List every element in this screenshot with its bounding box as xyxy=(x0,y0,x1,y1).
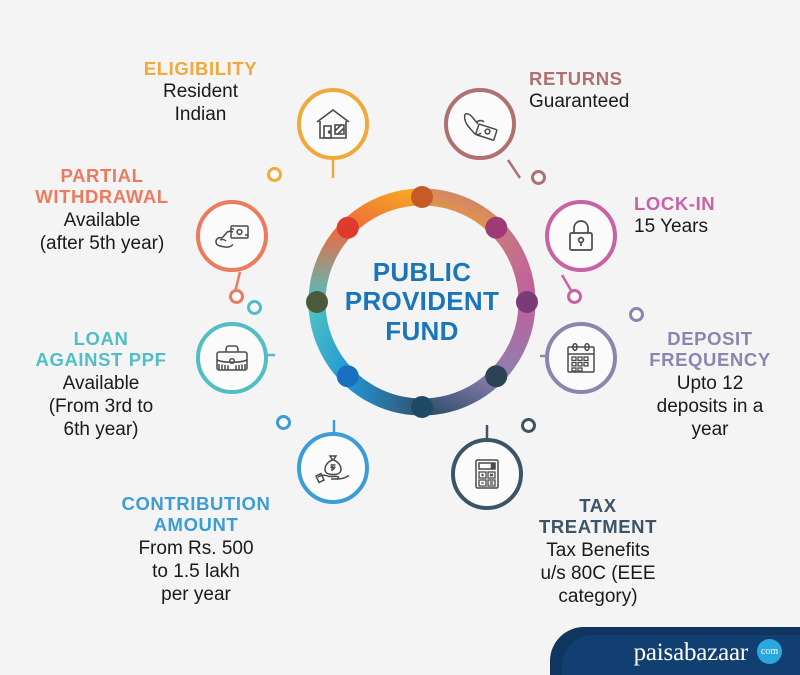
center-title-line2: PROVIDENT xyxy=(345,287,499,316)
connector-dot-eligibility xyxy=(267,167,282,182)
padlock-icon xyxy=(564,217,598,255)
label-desc-contribution-amount-2: to 1.5 lakh xyxy=(88,561,304,584)
label-desc-loan-against-ppf-3: 6th year) xyxy=(8,419,194,442)
label-eligibility: ELIGIBILITY Resident Indian xyxy=(108,58,293,127)
label-title-deposit-frequency-2: FREQUENCY xyxy=(620,349,800,370)
calendar-icon xyxy=(563,339,599,377)
label-partial-withdrawal: PARTIAL WITHDRAWAL Available (after 5th … xyxy=(6,165,198,256)
label-desc-deposit-frequency-1: Upto 12 xyxy=(620,373,800,396)
briefcase-icon xyxy=(212,340,252,376)
connector-dot-tax-treatment xyxy=(521,418,536,433)
label-desc-tax-treatment-1: Tax Benefits xyxy=(498,540,698,563)
label-loan-against-ppf: LOAN AGAINST PPF Available (From 3rd to … xyxy=(8,328,194,441)
center-title: PUBLIC PROVIDENT FUND xyxy=(303,183,541,421)
label-desc-loan-against-ppf-1: Available xyxy=(8,373,194,396)
connector-dot-returns xyxy=(531,170,546,185)
icon-circle-eligibility[interactable] xyxy=(297,88,369,160)
icon-circle-partial-withdrawal[interactable] xyxy=(196,200,268,272)
label-title-lock-in: LOCK-IN xyxy=(634,193,800,214)
label-title-contribution-amount-1: CONTRIBUTION xyxy=(88,493,304,514)
label-desc-eligibility-2: Indian xyxy=(108,104,293,127)
connector-dot-loan-against-ppf xyxy=(247,300,262,315)
label-lock-in: LOCK-IN 15 Years xyxy=(634,193,800,239)
hand-money-icon xyxy=(211,218,253,254)
label-tax-treatment: TAX TREATMENT Tax Benefits u/s 80C (EEE … xyxy=(498,495,698,608)
label-desc-loan-against-ppf-2: (From 3rd to xyxy=(8,396,194,419)
label-title-tax-treatment-1: TAX xyxy=(498,495,698,516)
label-desc-lock-in-1: 15 Years xyxy=(634,216,800,239)
money-bag-hand-icon xyxy=(312,449,354,487)
label-title-tax-treatment-2: TREATMENT xyxy=(498,516,698,537)
icon-circle-returns[interactable] xyxy=(444,88,516,160)
icon-circle-tax-treatment[interactable] xyxy=(451,438,523,510)
label-desc-partial-withdrawal-1: Available xyxy=(6,210,198,233)
ppf-infographic: PUBLIC PROVIDENT FUND xyxy=(0,0,800,675)
central-ring: PUBLIC PROVIDENT FUND xyxy=(303,183,541,421)
center-title-line1: PUBLIC xyxy=(373,258,472,287)
connector-dot-partial-withdrawal xyxy=(229,289,244,304)
house-icon xyxy=(313,104,353,144)
label-desc-deposit-frequency-3: year xyxy=(620,419,800,442)
icon-circle-loan-against-ppf[interactable] xyxy=(196,322,268,394)
icon-circle-contribution-amount[interactable] xyxy=(297,432,369,504)
label-title-returns: RETURNS xyxy=(529,68,759,89)
connector-dot-deposit-frequency xyxy=(629,307,644,322)
label-desc-tax-treatment-2: u/s 80C (EEE xyxy=(498,563,698,586)
connector-dot-contribution-amount xyxy=(276,415,291,430)
icon-circle-deposit-frequency[interactable] xyxy=(545,322,617,394)
label-title-eligibility: ELIGIBILITY xyxy=(108,58,293,79)
label-desc-returns-1: Guaranteed xyxy=(529,91,759,114)
brand-dotcom-badge: com xyxy=(757,639,782,664)
label-title-partial-withdrawal-1: PARTIAL xyxy=(6,165,198,186)
label-title-partial-withdrawal-2: WITHDRAWAL xyxy=(6,186,198,207)
label-desc-contribution-amount-1: From Rs. 500 xyxy=(88,538,304,561)
label-title-loan-against-ppf-1: LOAN xyxy=(8,328,194,349)
label-contribution-amount: CONTRIBUTION AMOUNT From Rs. 500 to 1.5 … xyxy=(88,493,304,606)
center-title-line3: FUND xyxy=(385,317,458,346)
label-returns: RETURNS Guaranteed xyxy=(529,68,759,114)
label-desc-deposit-frequency-2: deposits in a xyxy=(620,396,800,419)
label-desc-partial-withdrawal-2: (after 5th year) xyxy=(6,233,198,256)
hand-cash-icon xyxy=(459,104,501,144)
calculator-icon xyxy=(470,455,504,493)
label-title-contribution-amount-2: AMOUNT xyxy=(88,514,304,535)
icon-circle-lock-in[interactable] xyxy=(545,200,617,272)
label-title-loan-against-ppf-2: AGAINST PPF xyxy=(8,349,194,370)
label-title-deposit-frequency-1: DEPOSIT xyxy=(620,328,800,349)
label-desc-contribution-amount-3: per year xyxy=(88,584,304,607)
brand-logo-text: paisabazaar xyxy=(634,639,748,667)
label-deposit-frequency: DEPOSIT FREQUENCY Upto 12 deposits in a … xyxy=(620,328,800,441)
label-desc-eligibility-1: Resident xyxy=(108,81,293,104)
label-desc-tax-treatment-3: category) xyxy=(498,586,698,609)
footer-bar: paisabazaar com xyxy=(0,627,800,675)
connector-dot-lock-in xyxy=(567,289,582,304)
